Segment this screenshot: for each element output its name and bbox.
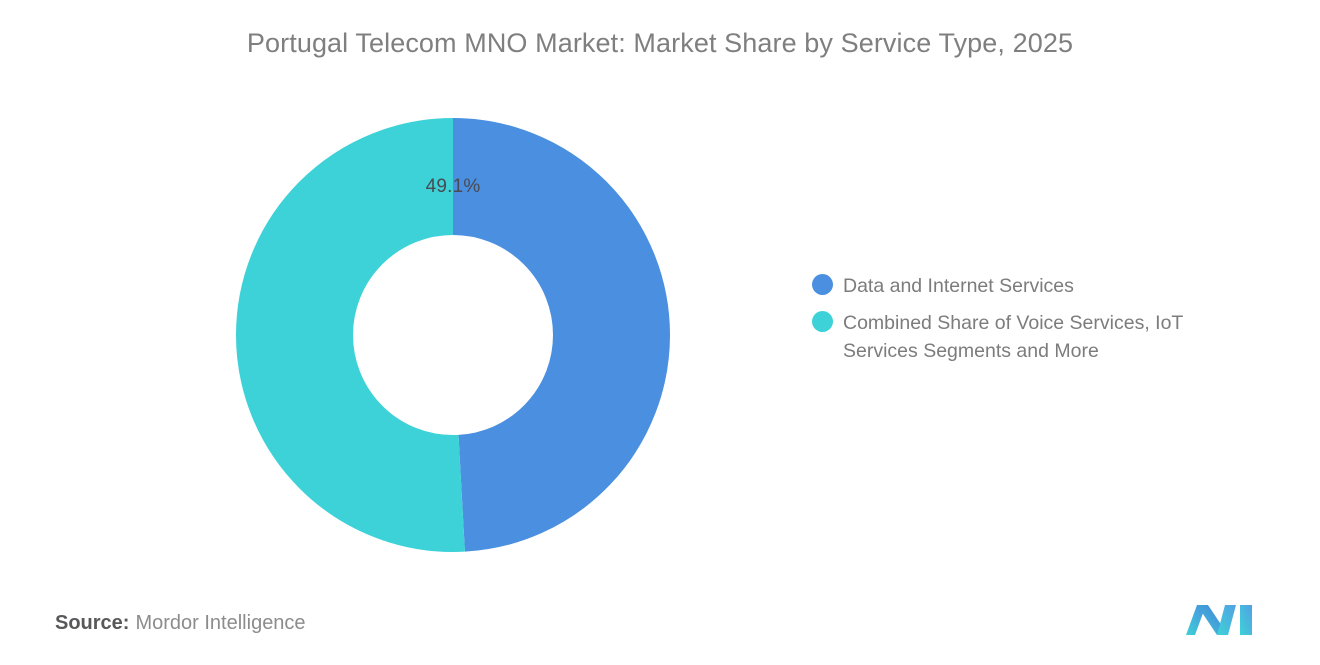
legend-item-data-and-internet-services[interactable]: Data and Internet Services [812,272,1282,300]
source-label: Source: [55,612,129,634]
legend-item-combined-share-voice-iot[interactable]: Combined Share of Voice Services, IoT Se… [812,309,1282,365]
legend-swatch-icon [812,274,833,295]
mordor-intelligence-logo-icon [1184,597,1254,639]
legend-item-label: Data and Internet Services [843,272,1074,300]
donut-chart-svg [236,118,670,552]
legend: Data and Internet Services Combined Shar… [812,272,1282,374]
legend-swatch-icon [812,311,833,332]
legend-item-label: Combined Share of Voice Services, IoT Se… [843,309,1243,365]
source-value: Mordor Intelligence [135,612,305,634]
donut-chart: 49.1% [236,118,670,552]
source-line: Source:Mordor Intelligence [55,612,306,635]
page-title: Portugal Telecom MNO Market: Market Shar… [0,28,1320,59]
